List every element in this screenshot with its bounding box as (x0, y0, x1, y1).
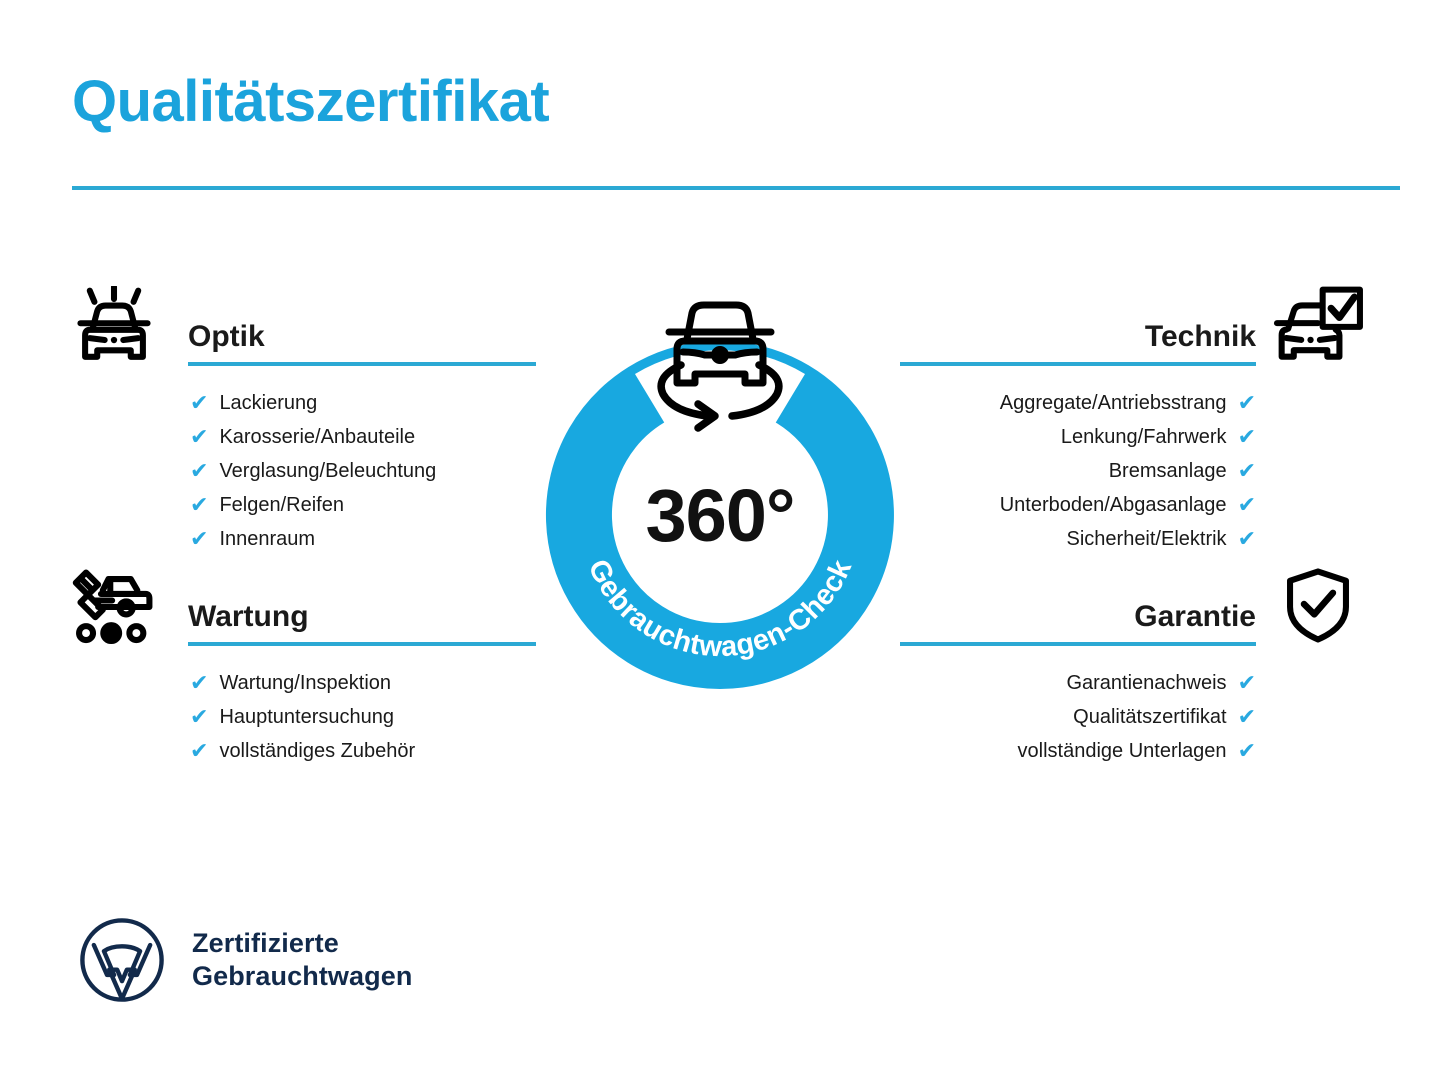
list-item-label: Aggregate/Antriebsstrang (1000, 392, 1227, 415)
check-icon: ✔ (190, 528, 208, 550)
check-icon: ✔ (1238, 706, 1256, 728)
list-item: ✔ Hauptuntersuchung (190, 700, 536, 734)
section-garantie-header: Garantie (900, 566, 1256, 654)
section-wartung-divider (188, 642, 536, 646)
badge-center-value: 360° (645, 474, 794, 557)
check-icon: ✔ (190, 672, 208, 694)
check-icon: ✔ (1238, 740, 1256, 762)
check-icon: ✔ (190, 740, 208, 762)
header-divider (72, 186, 1400, 190)
list-item-label: Lenkung/Fahrwerk (1061, 426, 1227, 449)
list-item: ✔ Karosserie/Anbauteile (190, 420, 536, 454)
car-checkbox-icon (1270, 284, 1366, 366)
footer-brand: Zertifizierte Gebrauchtwagen (78, 916, 412, 1004)
list-item: Lenkung/Fahrwerk ✔ (900, 420, 1256, 454)
list-item: ✔ Innenraum (190, 522, 536, 556)
list-item: Bremsanlage ✔ (900, 454, 1256, 488)
column-left-optik: Optik ✔ Lackierung ✔ Karosserie/Anbautei… (66, 286, 536, 556)
section-technik-header: Technik (900, 286, 1256, 374)
brand-claim-line2: Gebrauchtwagen (192, 960, 412, 993)
list-item-label: Felgen/Reifen (219, 494, 344, 517)
brand-claim: Zertifizierte Gebrauchtwagen (192, 927, 412, 993)
check-icon: ✔ (190, 460, 208, 482)
section-wartung-list: ✔ Wartung/Inspektion ✔ Hauptuntersuchung… (190, 654, 536, 768)
check-icon: ✔ (1238, 528, 1256, 550)
list-item: Unterboden/Abgasanlage ✔ (900, 488, 1256, 522)
section-optik-divider (188, 362, 536, 366)
check-icon: ✔ (190, 494, 208, 516)
section-technik: Technik Aggregate/Antriebsstrang ✔ Lenku… (900, 286, 1256, 556)
column-right-garantie: Garantie Garantienachweis ✔ Qualitätszer… (900, 566, 1256, 768)
section-garantie-divider (900, 642, 1256, 646)
list-item-label: Qualitätszertifikat (1073, 706, 1226, 729)
list-item: ✔ Wartung/Inspektion (190, 666, 536, 700)
car-service-pen-icon (66, 566, 162, 648)
brand-claim-line1: Zertifizierte (192, 927, 412, 960)
check-icon: ✔ (190, 392, 208, 414)
section-optik-title: Optik (188, 322, 265, 352)
list-item-label: Garantienachweis (1066, 672, 1226, 695)
list-item-label: Karosserie/Anbauteile (219, 426, 415, 449)
list-item-label: Bremsanlage (1109, 460, 1227, 483)
list-item: Garantienachweis ✔ (900, 666, 1256, 700)
section-technik-list: Aggregate/Antriebsstrang ✔ Lenkung/Fahrw… (900, 374, 1256, 556)
list-item-label: vollständige Unterlagen (1018, 740, 1227, 763)
section-technik-divider (900, 362, 1256, 366)
list-item-label: vollständiges Zubehör (219, 740, 415, 763)
list-item-label: Hauptuntersuchung (219, 706, 394, 729)
list-item-label: Wartung/Inspektion (219, 672, 391, 695)
list-item-label: Lackierung (219, 392, 317, 415)
section-optik-header: Optik (66, 286, 536, 374)
check-icon: ✔ (1238, 460, 1256, 482)
list-item: Sicherheit/Elektrik ✔ (900, 522, 1256, 556)
list-item: Aggregate/Antriebsstrang ✔ (900, 386, 1256, 420)
check-icon: ✔ (190, 706, 208, 728)
section-wartung-title: Wartung (188, 602, 309, 632)
section-optik: Optik ✔ Lackierung ✔ Karosserie/Anbautei… (66, 286, 536, 556)
list-item-label: Verglasung/Beleuchtung (219, 460, 436, 483)
list-item: ✔ Verglasung/Beleuchtung (190, 454, 536, 488)
list-item: ✔ vollständiges Zubehör (190, 734, 536, 768)
list-item: ✔ Lackierung (190, 386, 536, 420)
check-icon: ✔ (1238, 392, 1256, 414)
column-left-wartung: Wartung ✔ Wartung/Inspektion ✔ Hauptunte… (66, 566, 536, 768)
list-item-label: Sicherheit/Elektrik (1067, 528, 1227, 551)
check-icon: ✔ (190, 426, 208, 448)
gebrauchtwagen-check-badge: Gebrauchtwagen-Check 360° (535, 282, 905, 692)
check-icon: ✔ (1238, 672, 1256, 694)
section-optik-list: ✔ Lackierung ✔ Karosserie/Anbauteile ✔ V… (190, 374, 536, 556)
check-icon: ✔ (1238, 426, 1256, 448)
page-title: Qualitätszertifikat (72, 72, 549, 133)
vw-logo (78, 916, 166, 1004)
list-item: ✔ Felgen/Reifen (190, 488, 536, 522)
section-technik-title: Technik (1145, 322, 1256, 352)
list-item: Qualitätszertifikat ✔ (900, 700, 1256, 734)
car-shine-icon (66, 286, 162, 368)
list-item-label: Unterboden/Abgasanlage (1000, 494, 1227, 517)
certificate-page: Qualitätszertifikat (0, 0, 1440, 1080)
shield-check-icon (1278, 564, 1358, 646)
list-item-label: Innenraum (219, 528, 315, 551)
section-garantie: Garantie Garantienachweis ✔ Qualitätszer… (900, 566, 1256, 768)
section-garantie-title: Garantie (1134, 602, 1256, 632)
column-right-technik: Technik Aggregate/Antriebsstrang ✔ Lenku… (900, 286, 1256, 556)
section-wartung-header: Wartung (66, 566, 536, 654)
list-item: vollständige Unterlagen ✔ (900, 734, 1256, 768)
section-garantie-list: Garantienachweis ✔ Qualitätszertifikat ✔… (900, 654, 1256, 768)
section-wartung: Wartung ✔ Wartung/Inspektion ✔ Hauptunte… (66, 566, 536, 768)
check-icon: ✔ (1238, 494, 1256, 516)
